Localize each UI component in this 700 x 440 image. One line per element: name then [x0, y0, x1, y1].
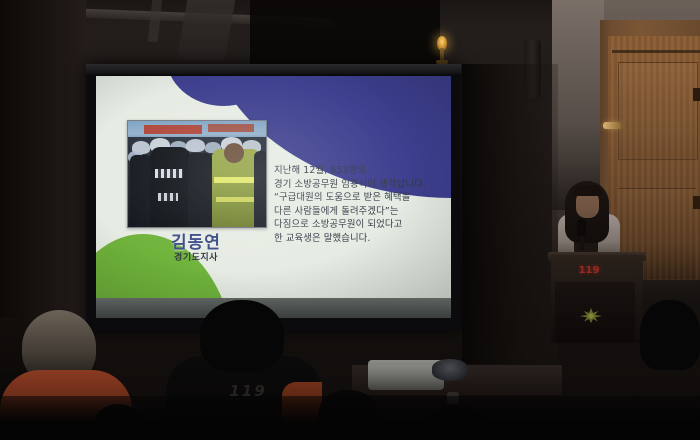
projection-screen-surface: 김동연 경기도지사 지난해 12월, 653명의 경기 소방공무원 임용식이 생… — [96, 76, 451, 316]
door-hinge-lower — [693, 196, 700, 209]
slide-body-line: 한 교육생은 말했습니다. — [274, 232, 446, 246]
podium-logo-text: 119 — [578, 265, 600, 276]
auditorium-presentation-photo: 김동연 경기도지사 지난해 12월, 653명의 경기 소방공무원 임용식이 생… — [0, 0, 700, 440]
slide-body-line: 다른 사람들에게 돌려주겠다”는 — [274, 205, 446, 219]
slide-body-line: 다짐으로 소방공무원이 되었다고 — [274, 218, 446, 232]
door-handle-icon[interactable] — [603, 122, 621, 129]
slide-body-line: 경기 소방공무원 임용식이 생각납니다. — [274, 178, 446, 192]
foreground-shadow — [0, 396, 700, 440]
shadowed-wall-segment — [462, 64, 558, 364]
microphone-handle — [580, 236, 584, 250]
door-top-molding — [612, 50, 700, 53]
right-wall-highlight — [552, 0, 604, 210]
photo-helmet — [186, 139, 205, 152]
ceiling-dark-recess — [250, 0, 440, 66]
slide-body-line: “구급대원의 도움으로 받은 혜택을 — [274, 191, 446, 205]
fire-service-emblem-icon — [578, 306, 604, 324]
photo-figure — [254, 151, 267, 227]
slide-body-text: 지난해 12월, 653명의 경기 소방공무원 임용식이 생각납니다. “구급대… — [274, 164, 446, 246]
photo-banner — [144, 125, 202, 134]
projection-screen-top-bar — [86, 64, 461, 74]
photo-uniform-badge-2 — [158, 193, 178, 201]
photo-uniform-badge — [155, 169, 183, 178]
photo-reflective-stripe — [214, 177, 258, 183]
presentation-slide: 김동연 경기도지사 지난해 12월, 653명의 경기 소방공무원 임용식이 생… — [96, 76, 451, 298]
photo-firefighter-head — [224, 143, 244, 163]
door-upper-panel — [618, 62, 698, 160]
slide-photo — [127, 120, 267, 228]
photo-figure — [130, 155, 152, 227]
presenter-hair-front — [574, 185, 602, 196]
photo-banner-2 — [208, 124, 254, 132]
projector-lens — [432, 359, 468, 381]
audience-member-head — [640, 300, 700, 370]
photo-reflective-stripe — [216, 197, 256, 202]
door-hinge-upper — [693, 88, 700, 101]
slide-speaker-title: 경기도지사 — [127, 250, 265, 263]
slide-body-line: 지난해 12월, 653명의 — [274, 164, 446, 178]
audience-member-head — [200, 300, 284, 372]
photo-figure — [188, 153, 212, 227]
photo-figure-foreground — [150, 147, 190, 227]
